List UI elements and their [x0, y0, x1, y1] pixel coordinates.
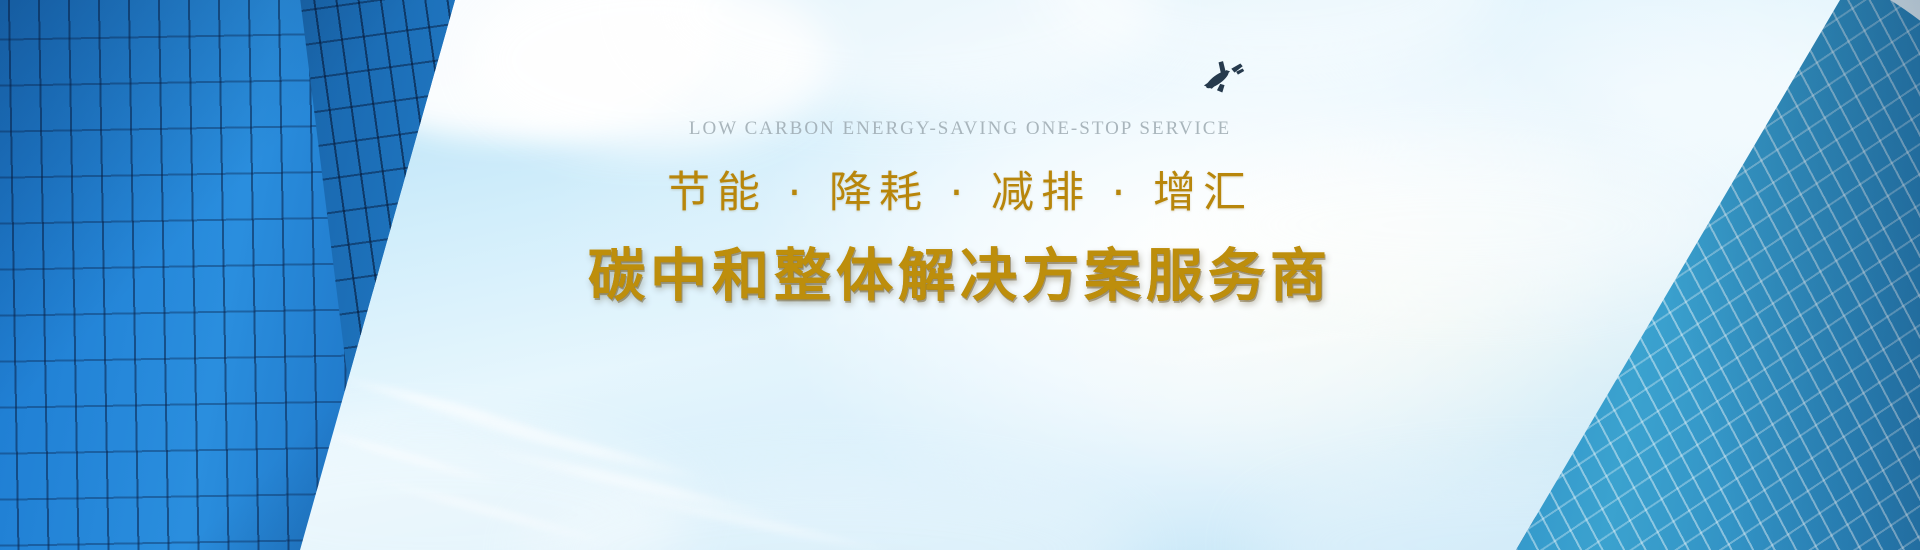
banner-headline: 碳中和整体解决方案服务商 — [0, 230, 1920, 312]
banner-subhead: 节能 · 降耗 · 减排 · 增汇 — [0, 158, 1920, 220]
banner-copy: LOW CARBON ENERGY-SAVING ONE-STOP SERVIC… — [0, 118, 1920, 312]
banner-eyebrow: LOW CARBON ENERGY-SAVING ONE-STOP SERVIC… — [0, 118, 1920, 140]
hero-banner: LOW CARBON ENERGY-SAVING ONE-STOP SERVIC… — [0, 0, 1920, 550]
airplane-icon — [1194, 53, 1252, 98]
